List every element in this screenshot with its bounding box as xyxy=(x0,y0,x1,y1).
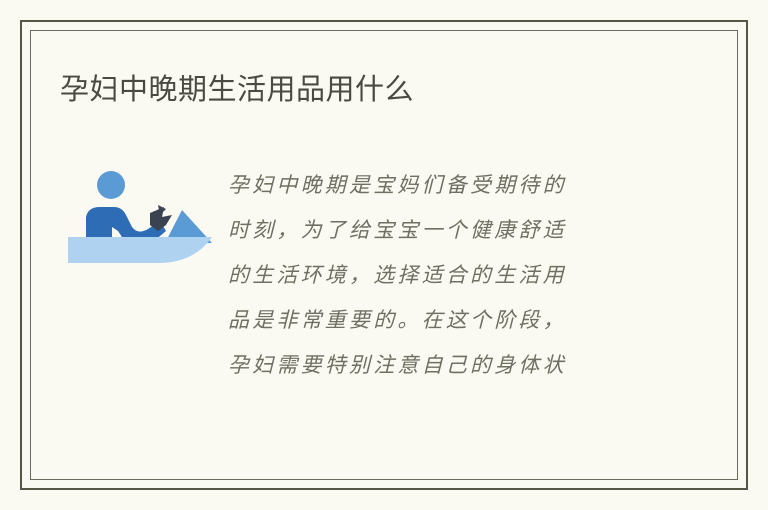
article-body: 孕妇中晚期是宝妈们备受期待的 时刻，为了给宝宝一个健康舒适 的生活环境，选择适合… xyxy=(228,163,648,388)
body-line: 孕妇需要特别注意自己的身体状 xyxy=(228,343,648,388)
body-line: 的生活环境，选择适合的生活用 xyxy=(228,253,648,298)
illustration-svg xyxy=(62,165,212,270)
body-line: 孕妇中晚期是宝妈们备受期待的 xyxy=(228,163,648,208)
person-head-shape xyxy=(97,171,125,199)
base-shape xyxy=(68,237,212,263)
body-line: 时刻，为了给宝宝一个健康舒适 xyxy=(228,208,648,253)
reclining-pregnant-woman-illustration xyxy=(62,165,212,270)
article-card: 孕妇中晚期生活用品用什么 孕妇中晚期是宝妈们备受期待的 时刻，为了给宝宝一个健康… xyxy=(0,0,768,510)
page-title: 孕妇中晚期生活用品用什么 xyxy=(60,69,700,111)
body-line: 品是非常重要的。在这个阶段， xyxy=(228,298,648,343)
